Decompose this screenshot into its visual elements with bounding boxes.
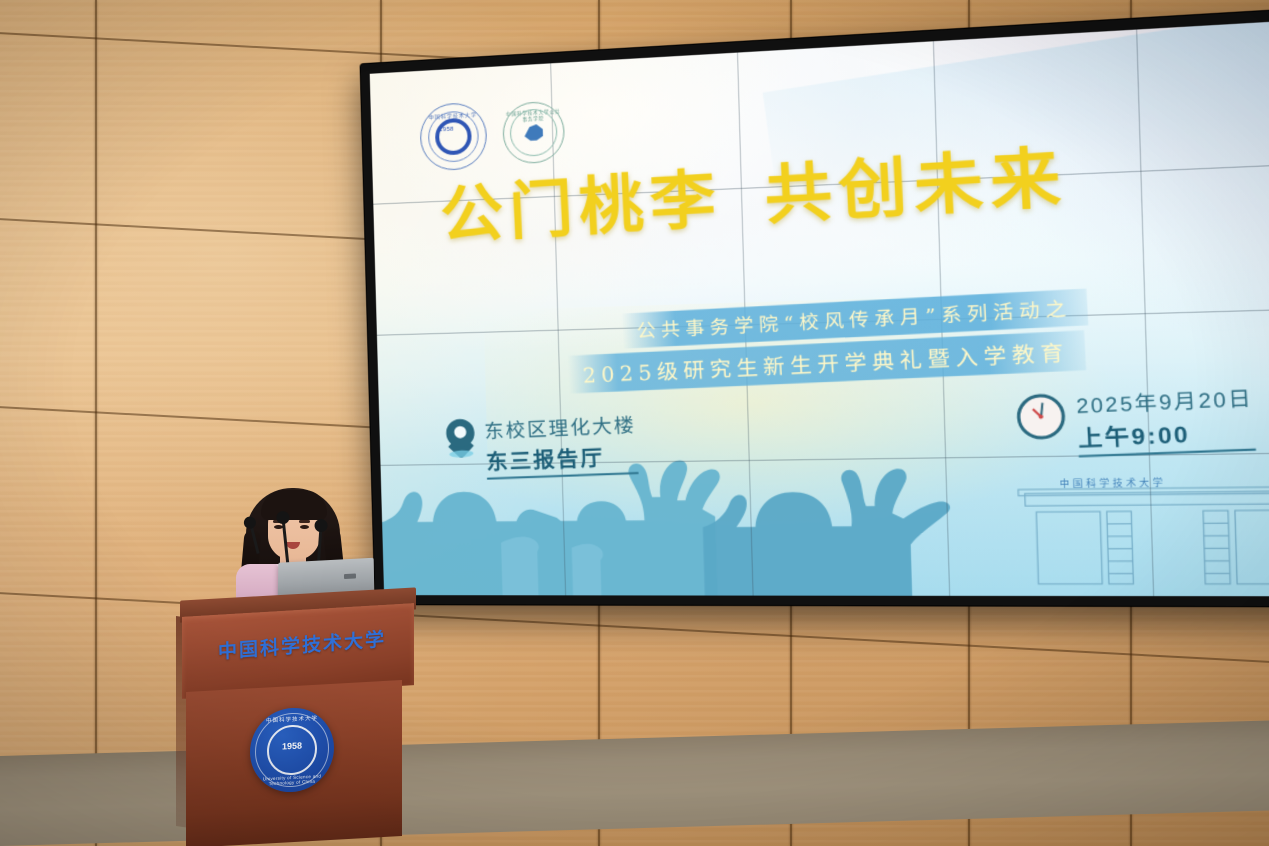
auditorium-scene: 中国科学技术大学 中国科学技术大学 1958 [0,0,1269,846]
location-hall: 东三报告厅 [485,440,638,480]
slide-logos: 中国科学技术大学 1958 中国科学技术大学公共事务学院 [419,97,565,171]
location-block: 东校区理化大楼 东三报告厅 [445,410,638,481]
public-affairs-seal-icon: 中国科学技术大学公共事务学院 [502,100,565,164]
led-video-wall[interactable]: 中国科学技术大学 中国科学技术大学 1958 [361,6,1269,607]
ustc-seal-icon: 中国科学技术大学 1958 [419,101,487,171]
wall-seam-vertical [95,0,97,846]
ustc-podium-seal-icon: 中国科学技术大学 1958 University of Science and … [250,706,334,794]
datetime-block: 2025年9月20日 上午9:00 [1016,382,1256,459]
podium: 中国科学技术大学 中国科学技术大学 1958 University of Sci… [176,594,416,844]
map-pin-icon [445,418,475,458]
presenter-eye-right [300,525,309,529]
event-time: 上午9:00 [1077,414,1256,457]
location-building: 东校区理化大楼 [484,410,637,444]
screen-content: 中国科学技术大学 中国科学技术大学 1958 [370,17,1269,596]
ustc-seal-year: 1958 [439,126,454,133]
presenter-bangs [261,490,327,520]
presenter-brow-right [299,520,310,523]
ustc-campus-gate-line-drawing: 中国科学技术大学 [1016,463,1269,590]
clock-icon [1016,393,1067,440]
